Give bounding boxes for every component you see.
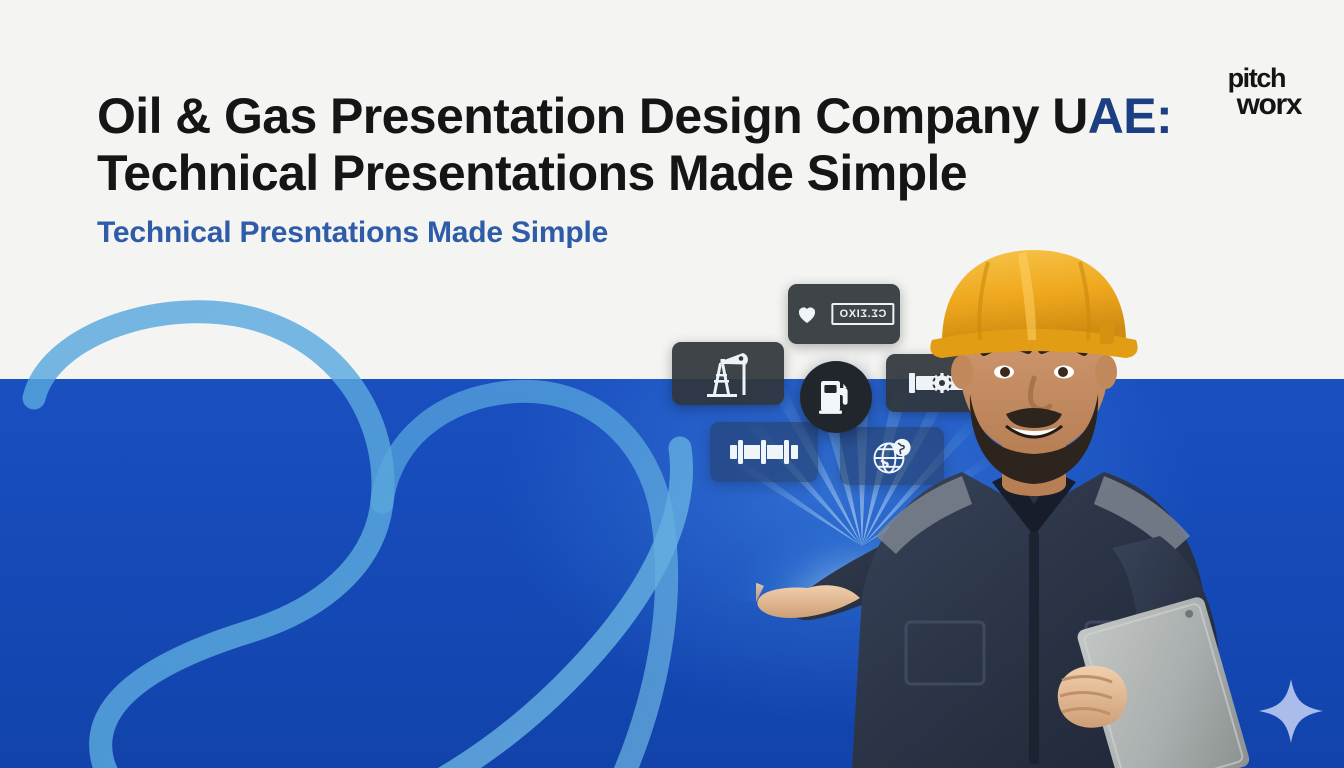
oil-pumpjack-icon (701, 350, 755, 398)
page-title: Oil & Gas Presentation Design Company UA… (97, 88, 1217, 145)
brand-logo[interactable]: pitch worx (1228, 66, 1301, 118)
brand-logo-line-2: worx (1237, 91, 1301, 119)
headline-block: Oil & Gas Presentation Design Company UA… (97, 88, 1217, 251)
slide-canvas: Oil & Gas Presentation Design Company UA… (0, 0, 1344, 768)
page-title-main: Oil & Gas Presentation Design Company U (97, 88, 1088, 144)
page-title-line-2: Technical Presentations Made Simple (97, 145, 1217, 202)
sparkle-icon (1258, 678, 1324, 744)
worker-photo (756, 236, 1344, 768)
page-title-accent: AE: (1088, 88, 1172, 144)
